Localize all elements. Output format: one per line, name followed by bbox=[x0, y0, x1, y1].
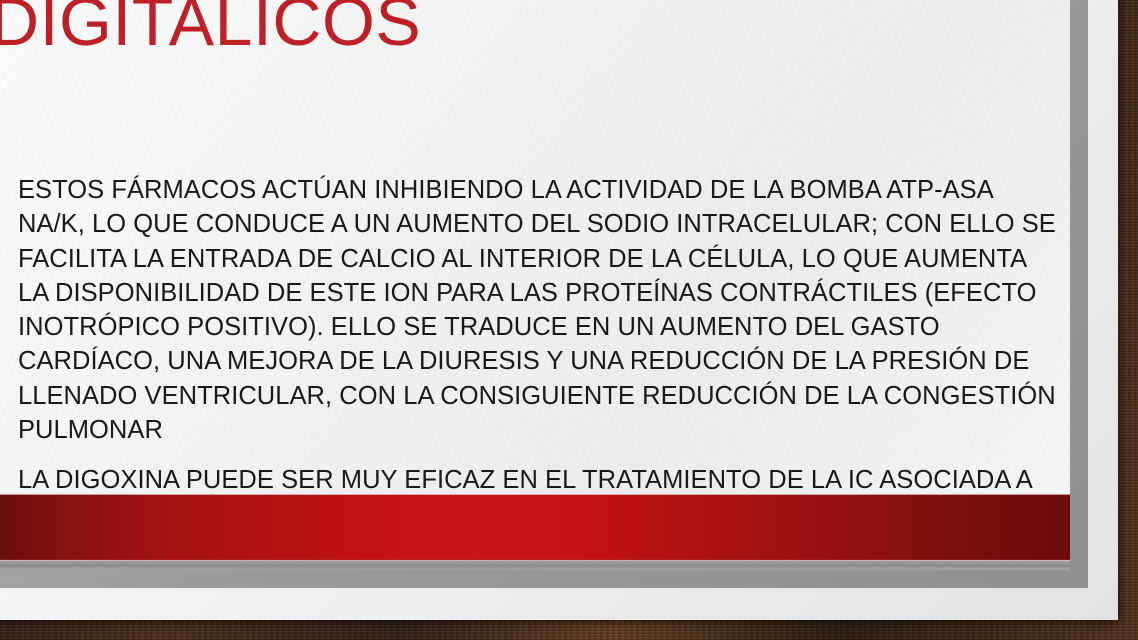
accent-band bbox=[0, 495, 1070, 560]
slide-frame-mat: DIGITALICOS ESTOS FÁRMACOS ACTÚAN INHIBI… bbox=[0, 0, 1118, 620]
presentation-slide: DIGITALICOS ESTOS FÁRMACOS ACTÚAN INHIBI… bbox=[0, 0, 1070, 570]
slide-frame-bevel: DIGITALICOS ESTOS FÁRMACOS ACTÚAN INHIBI… bbox=[0, 0, 1088, 588]
list-item: ESTOS FÁRMACOS ACTÚAN INHIBIENDO LA ACTI… bbox=[0, 173, 1058, 447]
slide-bottom-strip bbox=[0, 561, 1070, 570]
page-title: DIGITALICOS bbox=[0, 0, 421, 58]
bullet-text: ESTOS FÁRMACOS ACTÚAN INHIBIENDO LA ACTI… bbox=[18, 173, 1058, 447]
